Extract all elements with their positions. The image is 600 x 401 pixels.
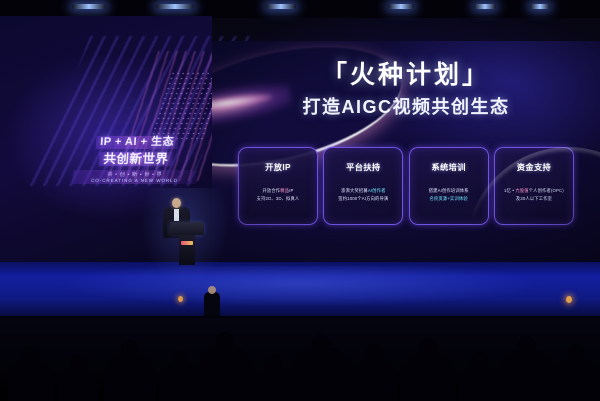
audience-member-head — [121, 340, 139, 357]
audience-member-head — [216, 332, 234, 349]
audience-member-head — [312, 334, 330, 351]
side-banner: IP + AI + 生态 共创新世界 共 • 创 • 新 • 世 • 界 CO-… — [72, 132, 200, 184]
podium-top — [170, 222, 204, 235]
audience-member-head — [518, 336, 536, 353]
podium-column — [179, 235, 195, 265]
stage-floor-sheen — [0, 266, 600, 306]
audience-member-silhouette — [196, 345, 254, 401]
audience-member-head — [471, 352, 489, 369]
audience-member-head — [366, 344, 384, 361]
audience-member-head — [22, 346, 40, 363]
exit-lamp — [566, 296, 572, 303]
podium-logo — [181, 241, 193, 245]
conference-stage-photo: IP + AI + 生态 共创新世界 共 • 创 • 新 • 世 • 界 CO-… — [0, 0, 600, 401]
audience-member-silhouette — [58, 367, 98, 401]
audience-member-silhouette — [254, 367, 294, 401]
audience-member-silhouette — [458, 365, 502, 401]
side-banner-line1: IP + AI + 生态 — [96, 136, 179, 149]
stage-side-lamp — [178, 296, 183, 302]
ceiling-light-1 — [72, 4, 106, 9]
audience-member-head — [567, 344, 585, 361]
ceiling-light-3 — [266, 4, 296, 9]
screen-vignette — [212, 41, 600, 263]
audience-member-silhouette — [104, 353, 156, 401]
ceiling-light-5 — [474, 4, 496, 9]
audience-member-silhouette — [552, 357, 600, 401]
led-presentation-screen: 「火种计划」 打造AIGC视频共创生态 开放IP开放合作精品IP支持2D、3D、… — [212, 41, 600, 263]
audience-member-head — [265, 354, 283, 371]
ceiling-light-6 — [530, 4, 550, 9]
audience-member-head — [419, 338, 437, 355]
speaker-head — [172, 198, 181, 208]
audience-member-silhouette — [8, 359, 54, 401]
side-attendant-head — [208, 286, 216, 294]
speaker-shirt — [174, 209, 179, 221]
audience-area — [0, 318, 600, 401]
side-banner-subtitle-en: CO-CREATING A NEW WORLD — [75, 178, 193, 183]
audience-member-head — [171, 350, 189, 367]
side-banner-subtitle: 共 • 创 • 新 • 世 • 界 CO-CREATING A NEW WORL… — [72, 170, 197, 184]
ceiling-light-4 — [388, 4, 414, 9]
audience-member-silhouette — [498, 349, 556, 401]
audience-member-head — [69, 354, 87, 371]
audience-member-silhouette — [400, 351, 456, 401]
audience-member-silhouette — [290, 347, 352, 401]
ceiling-light-2 — [156, 4, 194, 9]
side-banner-line2: 共创新世界 — [99, 152, 173, 166]
audience-member-silhouette — [352, 357, 398, 401]
